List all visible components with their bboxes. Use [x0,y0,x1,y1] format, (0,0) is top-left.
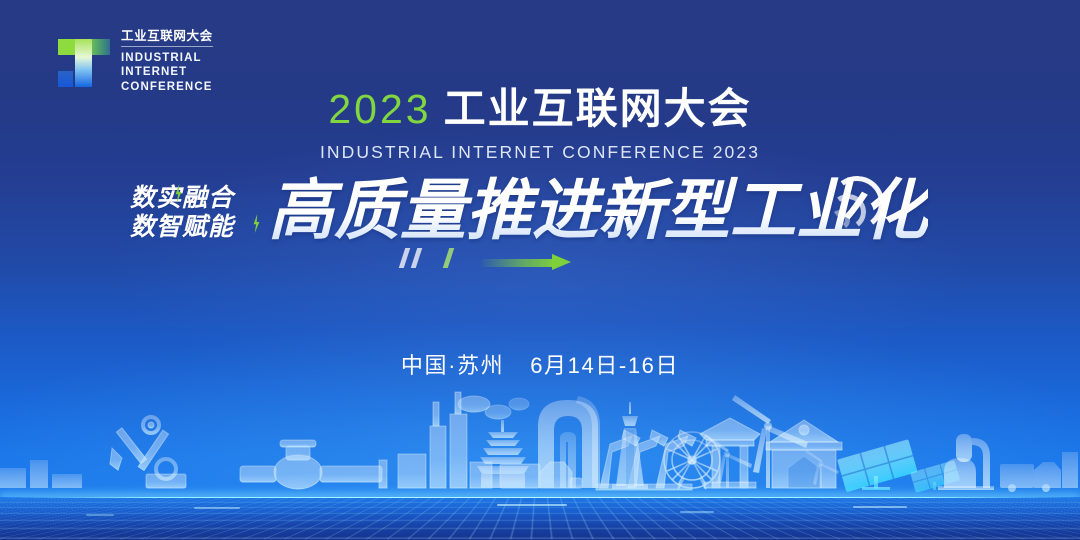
suzhou-pagoda-icon [477,420,529,488]
storage-tank-icon [938,434,994,490]
speed-slash-icon [443,248,454,268]
speed-slash-icon [399,248,410,268]
perspective-grid-floor [0,498,1080,540]
brand-logo-text: 工业互联网大会 INDUSTRIAL INTERNET CONFERENCE [121,30,213,95]
green-right-arrow-icon [482,254,578,271]
brand-name-en-line2: INTERNET [121,65,213,80]
title-year: 2023 [328,86,431,132]
solar-panel-icon [837,439,918,492]
brand-name-en-line1: INDUSTRIAL [121,51,213,66]
logo-square [58,71,73,87]
slogan-small-lines: 数实融合 数智赋能 [130,186,234,240]
slogan-small-line1: 数实融合 [130,186,234,211]
slogan-small-line2: 数智赋能 [130,215,234,240]
industrial-internet-t-mark-icon [52,31,110,93]
wind-turbine-icon [805,450,839,489]
wifi-signal-arc-icon [830,168,892,230]
slogan-block: 数实融合 数智赋能 高质量推进新型工业化 [0,182,1080,282]
conference-banner: 工业互联网大会 INDUSTRIAL INTERNET CONFERENCE 2… [0,0,1080,540]
low-rise-buildings-icon [0,460,82,488]
container-truck-icon [1000,452,1078,492]
tv-tower-icon [612,402,648,489]
brand-logo[interactable]: 工业互联网大会 INDUSTRIAL INTERNET CONFERENCE [52,30,213,95]
lightning-bolt-icon [252,214,261,233]
title-cn: 工业互联网大会 [444,85,752,132]
wind-turbine-icon [732,395,808,488]
brand-name-cn: 工业互联网大会 [121,30,213,47]
logo-stem [75,39,92,87]
gate-of-the-orient-icon [538,396,600,488]
title-main-row: 2023工业互联网大会 [0,88,1080,130]
page-title: 2023工业互联网大会 INDUSTRIAL INTERNET CONFEREN… [0,88,1080,163]
city-skyline-illustration [0,368,1080,498]
title-en: INDUSTRIAL INTERNET CONFERENCE 2023 [0,142,1080,163]
speed-slash-icon [411,248,422,268]
